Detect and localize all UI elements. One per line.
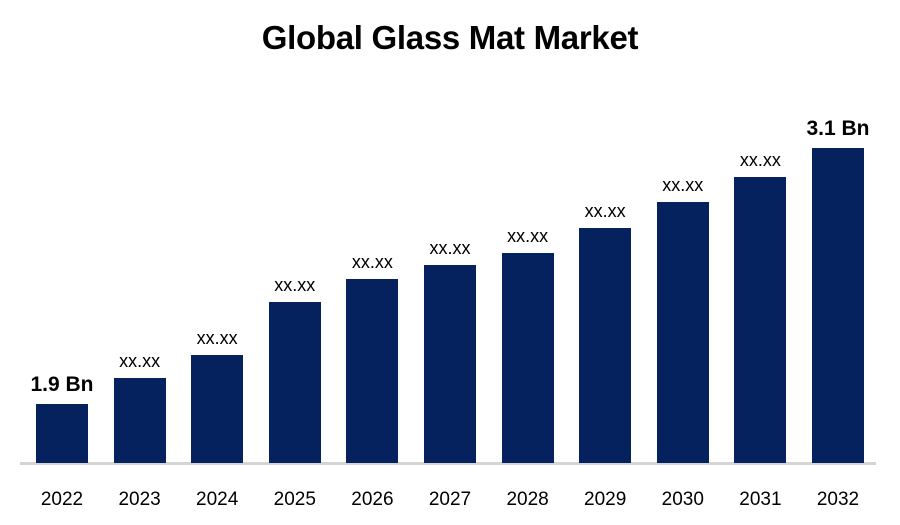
bar-value-label: xx.xx: [718, 150, 802, 171]
bar-value-label: xx.xx: [253, 275, 337, 296]
plot-area: 1.9 Bn2022xx.xx2023xx.xx2024xx.xx2025xx.…: [0, 0, 900, 525]
x-axis-tick-label: 2031: [718, 489, 802, 511]
bar-rect[interactable]: [657, 202, 709, 463]
bar-rect[interactable]: [424, 265, 476, 463]
bar-value-label: xx.xx: [486, 226, 570, 247]
bar-value-label: 3.1 Bn: [796, 117, 880, 141]
x-axis-tick-label: 2024: [175, 489, 259, 511]
x-axis-tick-label: 2026: [330, 489, 414, 511]
bar-rect[interactable]: [114, 378, 166, 463]
bar-value-label: 1.9 Bn: [20, 373, 104, 397]
bar-rect[interactable]: [269, 302, 321, 463]
bar-value-label: xx.xx: [98, 351, 182, 372]
x-axis-tick-label: 2027: [408, 489, 492, 511]
x-axis-tick-label: 2030: [641, 489, 725, 511]
bar-value-label: xx.xx: [408, 238, 492, 259]
x-axis-tick-label: 2029: [563, 489, 647, 511]
x-axis-tick-label: 2028: [486, 489, 570, 511]
bar-rect[interactable]: [734, 177, 786, 463]
bar-rect[interactable]: [502, 253, 554, 463]
x-axis-tick-label: 2022: [20, 489, 104, 511]
bar-value-label: xx.xx: [641, 175, 725, 196]
bar-value-label: xx.xx: [563, 201, 647, 222]
bar-rect[interactable]: [579, 228, 631, 463]
bar-rect[interactable]: [191, 355, 243, 463]
bar-rect[interactable]: [346, 279, 398, 463]
bar-value-label: xx.xx: [330, 252, 414, 273]
bar-rect[interactable]: [36, 404, 88, 463]
bar-value-label: xx.xx: [175, 328, 259, 349]
x-axis-tick-label: 2025: [253, 489, 337, 511]
bar-rect[interactable]: [812, 148, 864, 463]
x-axis-tick-label: 2032: [796, 489, 880, 511]
chart-container: Global Glass Mat Market 1.9 Bn2022xx.xx2…: [0, 0, 900, 525]
x-axis-tick-label: 2023: [98, 489, 182, 511]
